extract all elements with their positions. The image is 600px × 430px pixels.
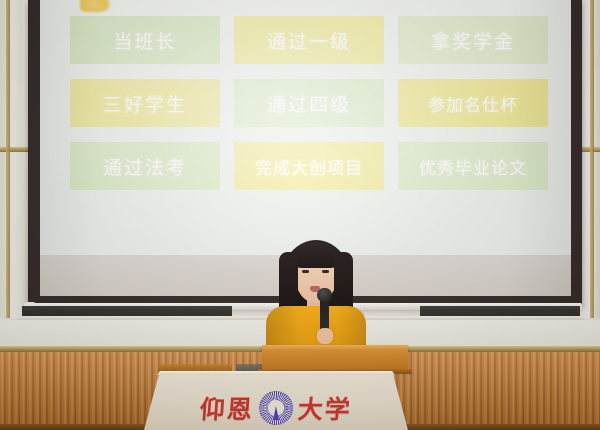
- podium-inner-shelf: [158, 364, 232, 372]
- presenter: [262, 236, 370, 356]
- university-emblem-icon: [259, 391, 293, 425]
- blackboard-right: [420, 306, 580, 316]
- eye-left: [302, 270, 309, 273]
- blackboard-left: [22, 306, 232, 316]
- podium-university-sign: 仰恩 大学: [176, 388, 376, 428]
- microphone-head-icon: [317, 288, 332, 302]
- wall-panel-left: [0, 0, 22, 318]
- podium-panel-top-edge: [144, 371, 408, 375]
- podium-desktop-highlight: [262, 345, 408, 350]
- university-name-left: 仰恩: [199, 390, 256, 426]
- wall-vertical-trim-right: [590, 0, 594, 318]
- university-name-right: 大学: [297, 390, 354, 426]
- eye-right: [322, 270, 329, 273]
- wall-vertical-trim-left: [6, 0, 10, 318]
- hand: [317, 328, 333, 344]
- presentation-photo: 当班长通过一级拿奖学金三好学生通过四级参加名仕杯通过法考完成大创项目优秀毕业论文: [0, 0, 600, 430]
